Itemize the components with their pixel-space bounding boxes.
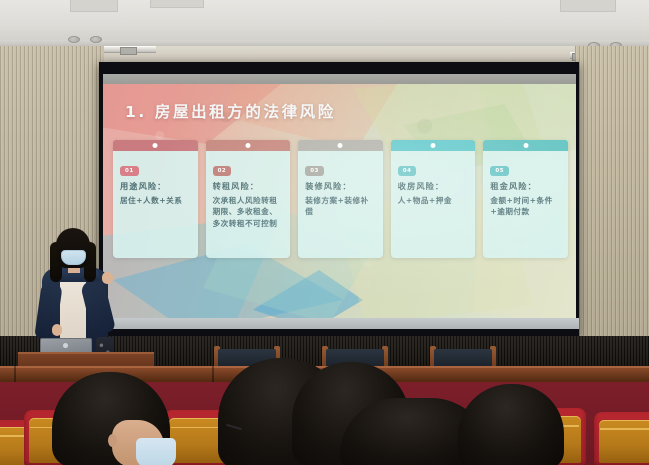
seat-trim: [600, 428, 649, 430]
card-body: 03 装修风险： 装修方案+装修补偿: [298, 151, 383, 258]
card-tab: [391, 140, 476, 151]
ceiling-panel: [70, 0, 118, 12]
auditorium-seat: [594, 412, 649, 465]
audience-head: [458, 384, 564, 465]
presenter-hand-left: [52, 324, 62, 336]
card-body: 01 用途风险： 居住+人数+关系: [113, 151, 198, 258]
card-text: 装修方案+装修补偿: [305, 195, 376, 218]
lecture-hall-photo: 1. 房屋出租方的法律风险 01 用途风险： 居住+人数+关系 02 转: [0, 0, 649, 465]
card-dot-icon: [245, 143, 250, 148]
card-badge: 02: [213, 166, 232, 176]
screen-top-strip: [103, 74, 576, 84]
risk-card: 05 租金风险： 金额+时间+条件+逾期付款: [483, 140, 568, 258]
risk-card: 03 装修风险： 装修方案+装修补偿: [298, 140, 383, 258]
card-heading: 装修风险：: [305, 181, 376, 193]
ceiling-vent-icon: [90, 36, 102, 43]
rail-bracket: [120, 47, 137, 55]
card-dot-icon: [153, 143, 158, 148]
card-dot-icon: [431, 143, 436, 148]
risk-card: 04 收房风险： 人+物品+押金: [391, 140, 476, 258]
card-tab: [113, 140, 198, 151]
card-dot-icon: [338, 143, 343, 148]
ceiling-panel: [150, 0, 204, 8]
card-dot-icon: [523, 143, 528, 148]
card-text: 居住+人数+关系: [120, 195, 191, 206]
risk-card-row: 01 用途风险： 居住+人数+关系 02 转租风险： 次承租人风险转租期限、多收…: [113, 140, 568, 258]
hair: [458, 384, 564, 465]
card-body: 05 租金风险： 金额+时间+条件+逾期付款: [483, 151, 568, 258]
card-tab: [483, 140, 568, 151]
card-body: 04 收房风险： 人+物品+押金: [391, 151, 476, 258]
card-badge: 01: [120, 166, 139, 176]
card-body: 02 转租风险： 次承租人风险转租期限、多收租金、多次转租不可控制: [206, 151, 291, 258]
ceiling-vent-icon: [68, 36, 80, 43]
audience-head: [52, 372, 170, 465]
ear: [108, 434, 117, 447]
screen-bottom-strip: [101, 318, 579, 329]
ceiling-panel: [560, 0, 616, 12]
desk-seam: [212, 366, 214, 382]
card-text: 人+物品+押金: [398, 195, 469, 206]
card-text: 次承租人风险转租期限、多收租金、多次转租不可控制: [213, 195, 284, 229]
card-badge: 05: [490, 166, 509, 176]
presentation-slide: 1. 房屋出租方的法律风险 01 用途风险： 居住+人数+关系 02 转: [103, 84, 576, 318]
card-heading: 用途风险：: [120, 181, 191, 193]
slide-title: 1. 房屋出租方的法律风险: [125, 100, 336, 122]
wall-panel-right: [575, 46, 649, 364]
card-tab: [206, 140, 291, 151]
card-badge: 04: [398, 166, 417, 176]
card-badge: 03: [305, 166, 324, 176]
card-heading: 收房风险：: [398, 181, 469, 193]
apple-logo-icon: [63, 343, 68, 348]
risk-card: 01 用途风险： 居住+人数+关系: [113, 140, 198, 258]
card-text: 金额+时间+条件+逾期付款: [490, 195, 561, 218]
presenter-hand-right: [102, 272, 113, 284]
risk-card: 02 转租风险： 次承租人风险转租期限、多收租金、多次转租不可控制: [206, 140, 291, 258]
seat-cushion: [599, 420, 649, 463]
card-heading: 租金风险：: [490, 181, 561, 193]
card-tab: [298, 140, 383, 151]
desk-seam: [14, 366, 16, 382]
face-mask-icon: [61, 250, 86, 265]
face-mask-icon: [136, 438, 176, 465]
card-heading: 转租风险：: [213, 181, 284, 193]
stage-chair: [428, 346, 498, 368]
